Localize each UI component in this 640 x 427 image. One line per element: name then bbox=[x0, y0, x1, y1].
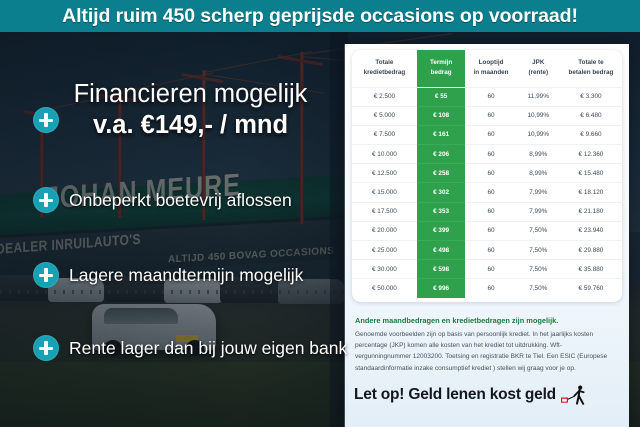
benefits-list: Financieren mogelijk v.a. €149,- / mnd O… bbox=[0, 32, 348, 427]
benefit-item-1: Onbeperkt boetevrij aflossen bbox=[33, 187, 292, 213]
table-cell: 8,99% bbox=[517, 164, 560, 183]
card-left-edge bbox=[344, 44, 345, 427]
table-cell: 60 bbox=[465, 221, 516, 240]
benefit-label: Lagere maandtermijn mogelijk bbox=[69, 265, 303, 286]
table-cell: 60 bbox=[465, 106, 516, 125]
table-row: € 2.500€ 556011,99%€ 3.300 bbox=[352, 87, 622, 106]
table-cell: € 15.480 bbox=[560, 164, 622, 183]
table-cell: € 3.300 bbox=[560, 87, 622, 106]
column-header-monthly-amount: Termijn bedrag bbox=[417, 50, 466, 87]
column-header-total-credit: Totale kredietbedrag bbox=[352, 50, 417, 87]
table-cell: € 17.500 bbox=[352, 202, 417, 221]
hero-headline: Financieren mogelijk v.a. €149,- / mnd bbox=[38, 80, 343, 140]
table-cell: € 206 bbox=[417, 145, 466, 164]
header-line: betalen bedrag bbox=[569, 69, 614, 76]
table-row: € 15.000€ 302607,99%€ 18.120 bbox=[352, 183, 622, 202]
table-row: € 5.000€ 1086010,99%€ 6.480 bbox=[352, 106, 622, 125]
benefit-item-3: Rente lager dan bij jouw eigen bank bbox=[33, 335, 347, 361]
table-cell: € 7.500 bbox=[352, 125, 417, 144]
table-cell: 7,50% bbox=[517, 221, 560, 240]
column-header-duration: Looptijd in maanden bbox=[465, 50, 516, 87]
table-cell: € 25.000 bbox=[352, 241, 417, 260]
finance-info-card: Totale kredietbedrag Termijn bedrag Loop… bbox=[345, 44, 629, 427]
table-cell: € 35.880 bbox=[560, 260, 622, 279]
table-cell: € 399 bbox=[417, 221, 466, 240]
disclaimer-body: Genoemde voorbeelden zijn op basis van p… bbox=[355, 329, 613, 374]
table-cell: € 30.000 bbox=[352, 260, 417, 279]
table-row: € 20.000€ 399607,50%€ 23.940 bbox=[352, 221, 622, 240]
header-line: (rente) bbox=[528, 69, 548, 76]
credit-warning: Let op! Geld lenen kost geld bbox=[354, 385, 587, 405]
header-line: kredietbedrag bbox=[364, 69, 406, 76]
table-cell: € 5.000 bbox=[352, 106, 417, 125]
credit-warning-text: Let op! Geld lenen kost geld bbox=[354, 386, 556, 404]
table-cell: 60 bbox=[465, 260, 516, 279]
table-cell: € 29.880 bbox=[560, 241, 622, 260]
rates-table-card: Totale kredietbedrag Termijn bedrag Loop… bbox=[352, 50, 622, 302]
column-header-total-payable: Totale te betalen bedrag bbox=[560, 50, 622, 87]
table-cell: € 12.360 bbox=[560, 145, 622, 164]
table-cell: 8,99% bbox=[517, 145, 560, 164]
table-cell: € 18.120 bbox=[560, 183, 622, 202]
table-cell: € 2.500 bbox=[352, 87, 417, 106]
table-cell: 10,99% bbox=[517, 106, 560, 125]
table-cell: € 23.940 bbox=[560, 221, 622, 240]
table-row: € 30.000€ 598607,50%€ 35.880 bbox=[352, 260, 622, 279]
table-header-row: Totale kredietbedrag Termijn bedrag Loop… bbox=[352, 50, 622, 87]
header-line: Totale te bbox=[578, 59, 603, 66]
plus-circle-icon bbox=[33, 262, 59, 288]
table-cell: 7,99% bbox=[517, 202, 560, 221]
table-cell: 10,99% bbox=[517, 125, 560, 144]
table-cell: 7,50% bbox=[517, 241, 560, 260]
benefit-label: Rente lager dan bij jouw eigen bank bbox=[69, 338, 347, 359]
benefit-item-2: Lagere maandtermijn mogelijk bbox=[33, 262, 303, 288]
plus-circle-icon bbox=[33, 187, 59, 213]
benefit-label: Onbeperkt boetevrij aflossen bbox=[69, 190, 292, 211]
table-row: € 7.500€ 1616010,99%€ 9.660 bbox=[352, 125, 622, 144]
rates-table: Totale kredietbedrag Termijn bedrag Loop… bbox=[352, 50, 622, 298]
table-cell: € 353 bbox=[417, 202, 466, 221]
table-row: € 10.000€ 206608,99%€ 12.360 bbox=[352, 145, 622, 164]
table-cell: € 9.660 bbox=[560, 125, 622, 144]
hero-line-2: v.a. €149,- / mnd bbox=[38, 111, 343, 140]
table-cell: 60 bbox=[465, 87, 516, 106]
table-cell: € 20.000 bbox=[352, 221, 417, 240]
table-cell: € 59.760 bbox=[560, 279, 622, 298]
table-cell: 60 bbox=[465, 125, 516, 144]
table-cell: 7,99% bbox=[517, 183, 560, 202]
table-cell: 60 bbox=[465, 279, 516, 298]
plus-circle-icon bbox=[33, 335, 59, 361]
table-cell: 11,99% bbox=[517, 87, 560, 106]
table-cell: 7,50% bbox=[517, 279, 560, 298]
table-cell: € 21.180 bbox=[560, 202, 622, 221]
table-cell: € 108 bbox=[417, 106, 466, 125]
table-cell: 60 bbox=[465, 202, 516, 221]
table-row: € 50.000€ 996607,50%€ 59.760 bbox=[352, 279, 622, 298]
header-line: Termijn bbox=[430, 59, 452, 66]
header-line: bedrag bbox=[431, 69, 452, 76]
table-cell: € 15.000 bbox=[352, 183, 417, 202]
table-cell: € 10.000 bbox=[352, 145, 417, 164]
man-pulling-block-icon bbox=[561, 385, 587, 405]
disclaimer-title: Andere maandbedragen en kredietbedragen … bbox=[355, 316, 619, 325]
table-cell: € 6.480 bbox=[560, 106, 622, 125]
top-banner-text: Altijd ruim 450 scherp geprijsde occasio… bbox=[62, 5, 578, 28]
table-cell: € 55 bbox=[417, 87, 466, 106]
table-cell: 7,50% bbox=[517, 260, 560, 279]
table-cell: 60 bbox=[465, 164, 516, 183]
header-line: in maanden bbox=[474, 69, 509, 76]
table-cell: € 302 bbox=[417, 183, 466, 202]
table-cell: € 50.000 bbox=[352, 279, 417, 298]
table-row: € 12.500€ 258608,99%€ 15.480 bbox=[352, 164, 622, 183]
table-cell: € 498 bbox=[417, 241, 466, 260]
table-row: € 17.500€ 353607,99%€ 21.180 bbox=[352, 202, 622, 221]
table-cell: 60 bbox=[465, 241, 516, 260]
top-banner: Altijd ruim 450 scherp geprijsde occasio… bbox=[0, 0, 640, 32]
header-line: JPK bbox=[532, 59, 544, 66]
table-row: € 25.000€ 498607,50%€ 29.880 bbox=[352, 241, 622, 260]
table-cell: € 598 bbox=[417, 260, 466, 279]
header-line: Totale bbox=[375, 59, 393, 66]
header-line: Looptijd bbox=[479, 59, 504, 66]
table-cell: € 12.500 bbox=[352, 164, 417, 183]
hero-line-1: Financieren mogelijk bbox=[38, 80, 343, 109]
column-header-jpk: JPK (rente) bbox=[517, 50, 560, 87]
table-cell: € 996 bbox=[417, 279, 466, 298]
rates-table-body: € 2.500€ 556011,99%€ 3.300€ 5.000€ 10860… bbox=[352, 87, 622, 298]
table-cell: € 258 bbox=[417, 164, 466, 183]
table-cell: 60 bbox=[465, 183, 516, 202]
table-cell: € 161 bbox=[417, 125, 466, 144]
promo-banner-image: JOHAN MEURE DEALER INRUILAUTO'S ALTIJD 4… bbox=[0, 0, 640, 427]
table-cell: 60 bbox=[465, 145, 516, 164]
